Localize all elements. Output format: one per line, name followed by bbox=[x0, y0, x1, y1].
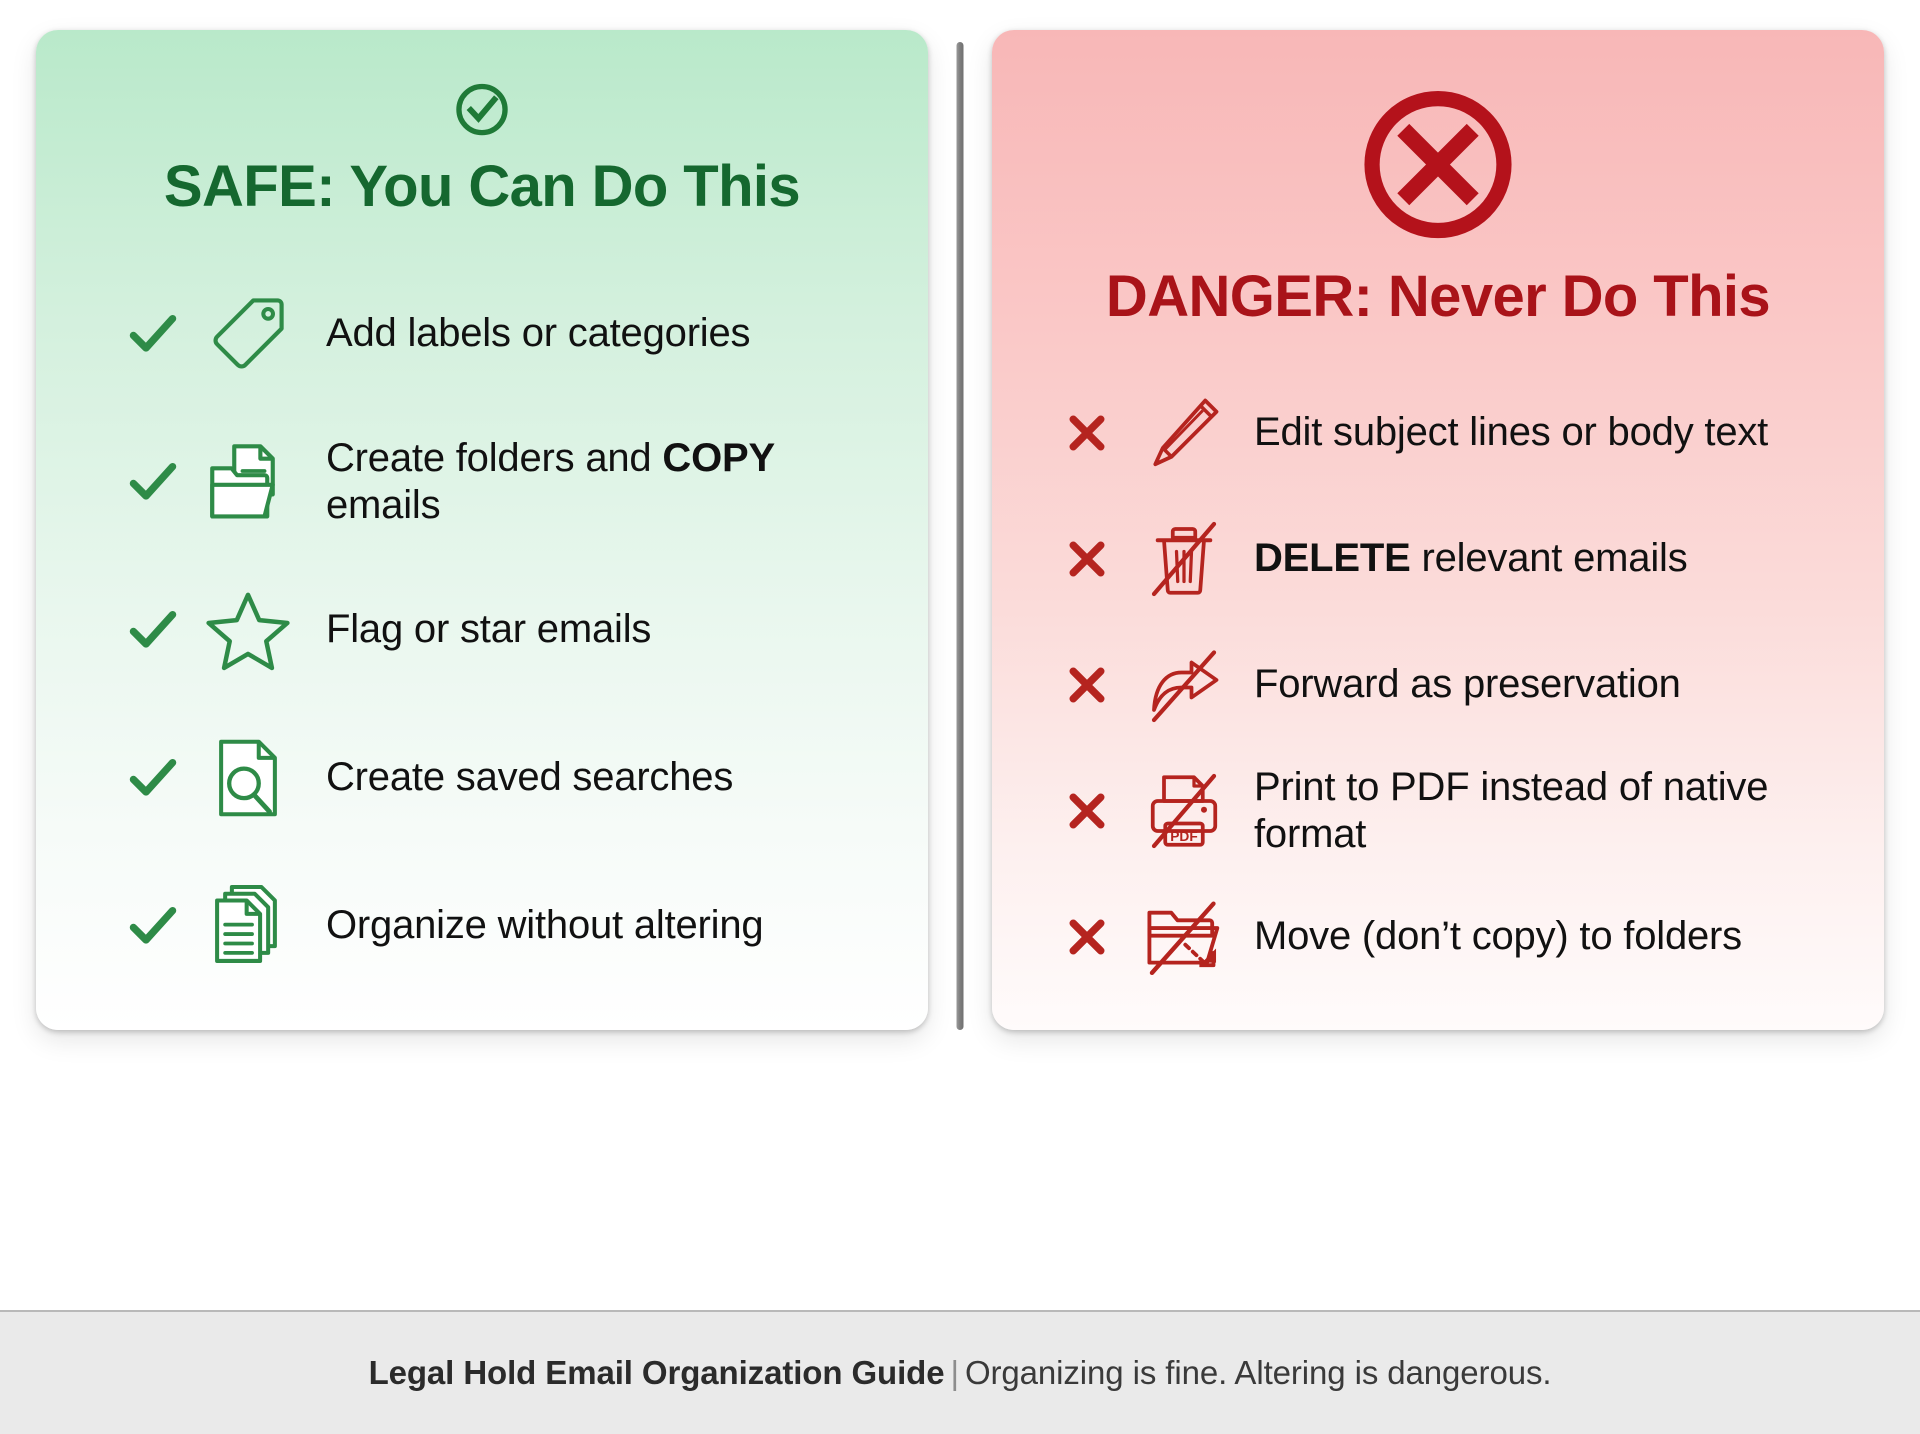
check-mark-icon bbox=[118, 447, 188, 517]
footer-tagline: Organizing is fine. Altering is dangerou… bbox=[965, 1354, 1551, 1391]
list-item-label: Organize without altering bbox=[326, 902, 763, 949]
folder-move-slash-icon bbox=[1136, 890, 1232, 984]
list-item: DELETE relevant emails bbox=[1026, 496, 1850, 622]
list-item: Organize without altering bbox=[70, 852, 894, 1000]
check-circle-icon bbox=[393, 80, 571, 139]
footer-separator: | bbox=[944, 1354, 964, 1391]
list-item-label: Flag or star emails bbox=[326, 606, 651, 653]
list-item: Create saved searches bbox=[70, 704, 894, 852]
svg-text:PDF: PDF bbox=[1170, 829, 1198, 844]
x-mark-icon bbox=[1052, 524, 1122, 594]
panels-container: SAFE: You Can Do This Add labels or cate… bbox=[0, 0, 1920, 1285]
check-mark-icon bbox=[118, 299, 188, 369]
tag-icon bbox=[196, 287, 300, 381]
x-mark-icon bbox=[1052, 650, 1122, 720]
list-item-label: Add labels or categories bbox=[326, 310, 750, 357]
star-icon bbox=[196, 583, 300, 677]
list-item-label: Create saved searches bbox=[326, 754, 733, 801]
list-item-label: Edit subject lines or body text bbox=[1254, 409, 1768, 456]
check-mark-icon bbox=[118, 743, 188, 813]
safe-panel-title: SAFE: You Can Do This bbox=[164, 157, 800, 218]
x-mark-icon bbox=[1052, 776, 1122, 846]
pencil-icon bbox=[1136, 386, 1232, 480]
x-mark-icon bbox=[1052, 398, 1122, 468]
safe-panel: SAFE: You Can Do This Add labels or cate… bbox=[36, 30, 928, 1030]
list-item: PDF Print to PDF instead of native forma… bbox=[1026, 748, 1850, 874]
list-item-label: Print to PDF instead of native format bbox=[1254, 764, 1850, 858]
check-mark-icon bbox=[118, 891, 188, 961]
list-item: Move (don’t copy) to folders bbox=[1026, 874, 1850, 1000]
infographic-root: SAFE: You Can Do This Add labels or cate… bbox=[0, 0, 1920, 1434]
forward-arrow-slash-icon bbox=[1136, 638, 1232, 732]
footer-banner: Legal Hold Email Organization Guide|Orga… bbox=[0, 1310, 1920, 1434]
printer-pdf-slash-icon: PDF bbox=[1136, 764, 1232, 858]
list-item: Create folders and COPY emails bbox=[70, 408, 894, 556]
footer-text: Legal Hold Email Organization Guide|Orga… bbox=[369, 1354, 1552, 1392]
x-mark-icon bbox=[1052, 902, 1122, 972]
x-circle-icon bbox=[1349, 80, 1527, 249]
list-item: Flag or star emails bbox=[70, 556, 894, 704]
document-search-icon bbox=[196, 731, 300, 825]
list-item: Edit subject lines or body text bbox=[1026, 370, 1850, 496]
folder-document-icon bbox=[196, 435, 300, 529]
check-mark-icon bbox=[118, 595, 188, 665]
list-item-label: Forward as preservation bbox=[1254, 661, 1681, 708]
list-item-label: Create folders and COPY emails bbox=[326, 435, 894, 529]
panel-divider bbox=[928, 30, 992, 1285]
danger-panel: DANGER: Never Do This bbox=[992, 30, 1884, 1030]
safe-item-list: Add labels or categories bbox=[70, 260, 894, 1000]
footer-title: Legal Hold Email Organization Guide bbox=[369, 1354, 945, 1391]
danger-panel-title: DANGER: Never Do This bbox=[1106, 267, 1770, 328]
list-item: Add labels or categories bbox=[70, 260, 894, 408]
list-item: Forward as preservation bbox=[1026, 622, 1850, 748]
danger-item-list: Edit subject lines or body text bbox=[1026, 370, 1850, 1000]
list-item-label: DELETE relevant emails bbox=[1254, 535, 1688, 582]
trash-slash-icon bbox=[1136, 512, 1232, 606]
list-item-label: Move (don’t copy) to folders bbox=[1254, 913, 1742, 960]
stacked-documents-icon bbox=[196, 879, 300, 973]
